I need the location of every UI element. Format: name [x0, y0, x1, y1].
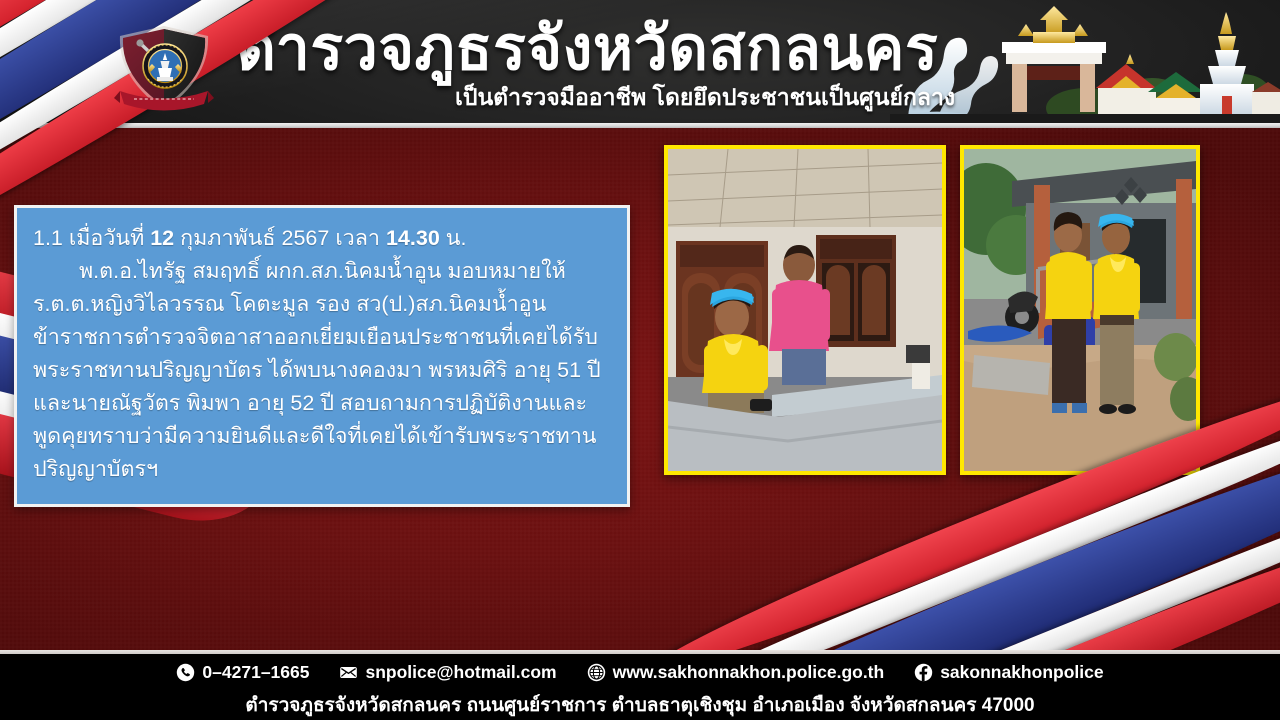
announcement-emphasis: 12 — [150, 226, 174, 250]
announcement-line: ปริญญาบัตรฯ — [33, 453, 611, 486]
contact-item-facebook[interactable]: sakonnakhonpolice — [914, 662, 1103, 683]
office-address: ตำรวจภูธรจังหวัดสกลนคร ถนนศูนย์ราชการ ตำ… — [0, 690, 1280, 720]
page-title: ตำรวจภูธรจังหวัดสกลนคร — [236, 15, 938, 81]
announcement-line: 1.1 เมื่อวันที่ 12 กุมภาพันธ์ 2567 เวลา … — [33, 222, 611, 255]
announcement-segment: พ.ต.อ.ไทรัฐ สมฤทธิ์ ผกก.สภ.นิคมน้ำอูน มอ… — [79, 259, 566, 283]
royal-thai-police-badge-icon — [108, 22, 220, 122]
contact-label: www.sakhonnakhon.police.go.th — [613, 662, 885, 683]
announcement-segment: น. — [440, 226, 467, 250]
website-icon — [587, 663, 606, 682]
announcement-segment: ปริญญาบัตรฯ — [33, 457, 158, 481]
contact-row: 0–4271–1665snpolice@hotmail.comwww.sakho… — [0, 662, 1280, 683]
photo-visit-standing[interactable] — [960, 145, 1200, 475]
footer-bar: 0–4271–1665snpolice@hotmail.comwww.sakho… — [0, 654, 1280, 720]
email-icon — [339, 663, 358, 682]
contact-label: snpolice@hotmail.com — [365, 662, 556, 683]
announcement-emphasis: 14.30 — [386, 226, 440, 250]
header-divider — [0, 123, 1280, 128]
announcement-segment: ร.ต.ต.หญิงวิไลวรรณ โคตะมูล รอง สว(ป.)สภ.… — [33, 292, 546, 316]
announcement-line: ร.ต.ต.หญิงวิไลวรรณ โคตะมูล รอง สว(ป.)สภ.… — [33, 288, 611, 321]
announcement-line: พ.ต.อ.ไทรัฐ สมฤทธิ์ ผกก.สภ.นิคมน้ำอูน มอ… — [33, 255, 611, 288]
announcement-text: 1.1 เมื่อวันที่ 12 กุมภาพันธ์ 2567 เวลา … — [33, 222, 611, 486]
announcement-panel: 1.1 เมื่อวันที่ 12 กุมภาพันธ์ 2567 เวลา … — [14, 205, 630, 507]
contact-item-website[interactable]: www.sakhonnakhon.police.go.th — [587, 662, 885, 683]
facebook-icon — [914, 663, 933, 682]
contact-item-email[interactable]: snpolice@hotmail.com — [339, 662, 556, 683]
contact-label: 0–4271–1665 — [202, 662, 309, 683]
announcement-segment: และนายณัฐวัตร พิมพา อายุ 52 ปี สอบถามการ… — [33, 391, 587, 415]
announcement-line: และนายณัฐวัตร พิมพา อายุ 52 ปี สอบถามการ… — [33, 387, 611, 420]
announcement-segment: พระราชทานปริญญาบัตร ได้พบนางคองมา พรหมศิ… — [33, 358, 601, 382]
announcement-segment: พูดคุยทราบว่ามีความยินดีและดีใจที่เคยได้… — [33, 424, 596, 448]
contact-label: sakonnakhonpolice — [940, 662, 1103, 683]
contact-item-phone[interactable]: 0–4271–1665 — [176, 662, 309, 683]
photo-visit-seated[interactable] — [664, 145, 946, 475]
page-subtitle: เป็นตำรวจมืออาชีพ โดยยึดประชาชนเป็นศูนย์… — [455, 84, 955, 111]
announcement-segment: กุมภาพันธ์ 2567 เวลา — [174, 226, 386, 250]
poster-root: ตำรวจภูธรจังหวัดสกลนคร เป็นตำรวจมืออาชีพ… — [0, 0, 1280, 720]
phone-icon — [176, 663, 195, 682]
announcement-segment: ข้าราชการตำรวจจิตอาสาออกเยี่ยมเยือนประชา… — [33, 325, 598, 349]
announcement-line: พูดคุยทราบว่ามีความยินดีและดีใจที่เคยได้… — [33, 420, 611, 453]
announcement-segment: 1.1 เมื่อวันที่ — [33, 226, 150, 250]
announcement-line: พระราชทานปริญญาบัตร ได้พบนางคองมา พรหมศิ… — [33, 354, 611, 387]
announcement-line: ข้าราชการตำรวจจิตอาสาออกเยี่ยมเยือนประชา… — [33, 321, 611, 354]
